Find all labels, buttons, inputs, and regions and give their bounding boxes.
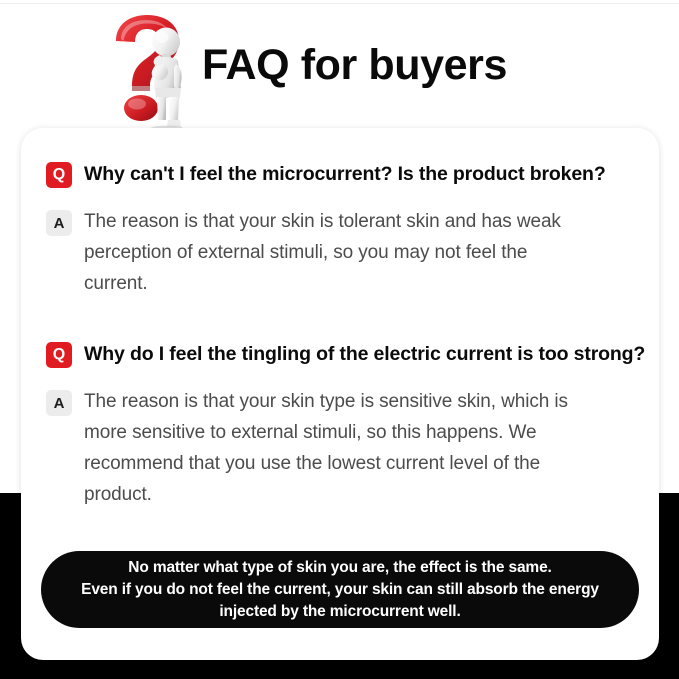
question-text: Why do I feel the tingling of the electr… <box>84 341 645 367</box>
summary-banner-line: No matter what type of skin you are, the… <box>128 557 551 579</box>
answer-text: The reason is that your skin type is sen… <box>84 386 576 510</box>
summary-banner-line: injected by the microcurrent well. <box>219 601 460 623</box>
answer-row: A The reason is that your skin is tolera… <box>21 210 659 299</box>
answer-badge: A <box>46 210 72 236</box>
faq-infographic: FAQ for buyers Q Why can't I feel the mi… <box>0 0 679 679</box>
question-badge: Q <box>46 342 72 368</box>
faq-card: Q Why can't I feel the microcurrent? Is … <box>21 128 659 660</box>
question-mark-thinking-person-icon <box>104 14 204 130</box>
summary-banner-line: Even if you do not feel the current, you… <box>81 579 599 601</box>
header: FAQ for buyers <box>0 0 679 128</box>
question-row: Q Why can't I feel the microcurrent? Is … <box>21 162 659 188</box>
answer-row: A The reason is that your skin type is s… <box>21 390 659 510</box>
answer-badge: A <box>46 390 72 416</box>
question-badge: Q <box>46 162 72 188</box>
question-row: Q Why do I feel the tingling of the elec… <box>21 342 659 368</box>
page-title: FAQ for buyers <box>202 41 507 90</box>
summary-banner: No matter what type of skin you are, the… <box>41 551 639 628</box>
answer-text: The reason is that your skin is tolerant… <box>84 206 584 299</box>
question-text: Why can't I feel the microcurrent? Is th… <box>84 161 606 187</box>
faq-item: Q Why do I feel the tingling of the elec… <box>21 342 659 510</box>
faq-item: Q Why can't I feel the microcurrent? Is … <box>21 162 659 299</box>
